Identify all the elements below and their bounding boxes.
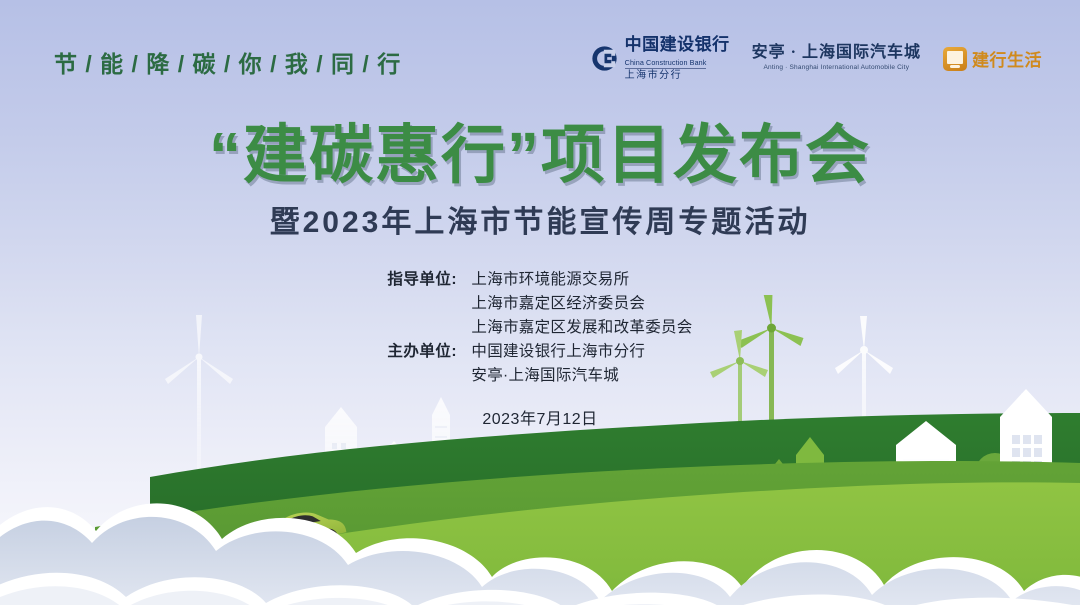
ccb-life-app-icon [943, 47, 967, 71]
ccb-name-en: China Construction Bank [625, 59, 707, 69]
scenery-svg [0, 295, 1080, 605]
ccb-logo-text: 中国建设银行 China Construction Bank 上海市分行 [625, 36, 730, 81]
ccb-logo-icon [591, 45, 618, 72]
poster-canvas: 节 / 能 / 降 / 碳 / 你 / 我 / 同 / 行 中国建设银行 Chi… [0, 0, 1080, 605]
anting-name-cn: 安亭 · 上海国际汽车城 [752, 45, 921, 61]
ccb-name-cn: 中国建设银行 [625, 36, 730, 53]
anting-name-en: Anting · Shanghai International Automobi… [752, 65, 921, 72]
ccb-logo: 中国建设银行 China Construction Bank 上海市分行 [591, 36, 730, 81]
logo-group: 中国建设银行 China Construction Bank 上海市分行 安亭 … [591, 36, 1042, 81]
page-subtitle: 暨2023年上海市节能宣传周专题活动 [0, 197, 1080, 241]
ccb-branch: 上海市分行 [625, 71, 730, 81]
credit-label: 指导单位: [387, 268, 471, 292]
scenery-illustration [0, 295, 1080, 605]
anting-logo: 安亭 · 上海国际汽车城 Anting · Shanghai Internati… [752, 45, 921, 72]
ccb-life-name: 建行生活 [972, 46, 1042, 71]
wind-turbine-icon [165, 315, 233, 483]
ccb-life-logo: 建行生活 [943, 46, 1042, 71]
credit-row: 指导单位:上海市环境能源交易所 [387, 268, 692, 292]
page-title: “建碳惠行”项目发布会 [0, 104, 1080, 196]
campaign-slogan: 节 / 能 / 降 / 碳 / 你 / 我 / 同 / 行 [54, 45, 401, 79]
credit-value: 上海市环境能源交易所 [471, 268, 629, 292]
poster-header: 节 / 能 / 降 / 碳 / 你 / 我 / 同 / 行 中国建设银行 Chi… [0, 0, 1080, 108]
